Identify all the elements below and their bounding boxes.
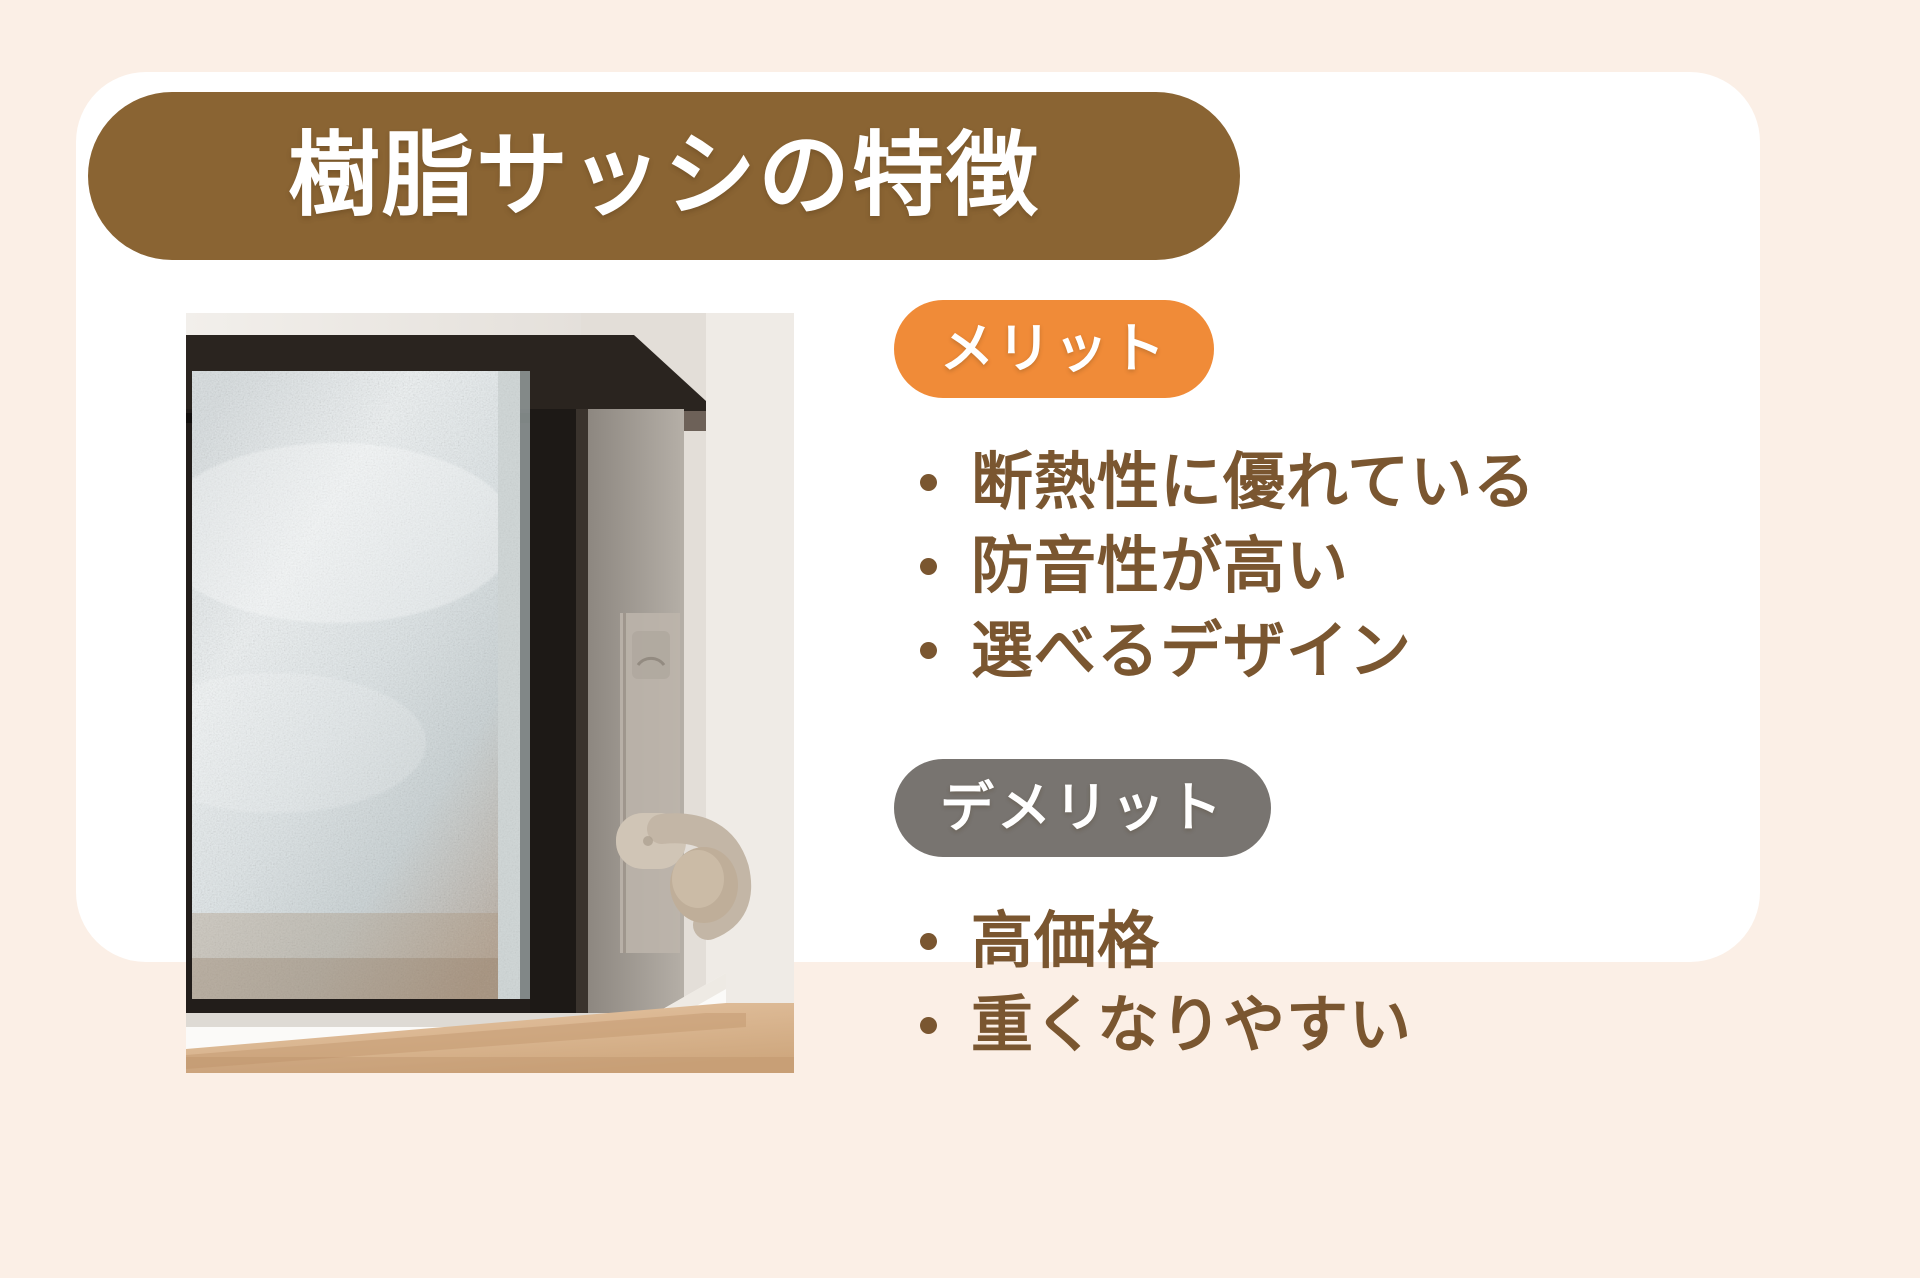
list-item-label: 防音性が高い — [971, 524, 1349, 608]
merit-badge: メリット — [894, 300, 1214, 398]
list-item-label: 断熱性に優れている — [971, 440, 1536, 524]
list-item: 高価格 — [920, 899, 1680, 983]
window-photo — [186, 313, 794, 1073]
list-item-label: 重くなりやすい — [971, 983, 1412, 1067]
bullet-dot-icon — [920, 474, 937, 491]
list-item: 防音性が高い — [920, 524, 1680, 608]
merit-list: 断熱性に優れている 防音性が高い 選べるデザイン — [880, 440, 1680, 693]
page-title: 樹脂サッシの特徴 — [288, 130, 1040, 222]
list-item-label: 高価格 — [971, 899, 1160, 983]
bullet-dot-icon — [920, 933, 937, 950]
demerit-badge-label: デメリット — [940, 781, 1225, 835]
bullet-dot-icon — [920, 642, 937, 659]
list-item-label: 選べるデザイン — [971, 609, 1412, 693]
demerit-list: 高価格 重くなりやすい — [880, 899, 1680, 1068]
list-item: 選べるデザイン — [920, 609, 1680, 693]
bullet-dot-icon — [920, 1017, 937, 1034]
bullet-dot-icon — [920, 558, 937, 575]
window-photo-illustration — [186, 313, 794, 1073]
page-title-banner: 樹脂サッシの特徴 — [88, 92, 1240, 260]
section-divider-spacer — [880, 693, 1680, 759]
merit-badge-label: メリット — [940, 322, 1168, 376]
demerit-badge: デメリット — [894, 759, 1271, 857]
features-column: メリット 断熱性に優れている 防音性が高い 選べるデザイン デメリット 高価格 … — [880, 300, 1680, 1068]
list-item: 断熱性に優れている — [920, 440, 1680, 524]
list-item: 重くなりやすい — [920, 983, 1680, 1067]
